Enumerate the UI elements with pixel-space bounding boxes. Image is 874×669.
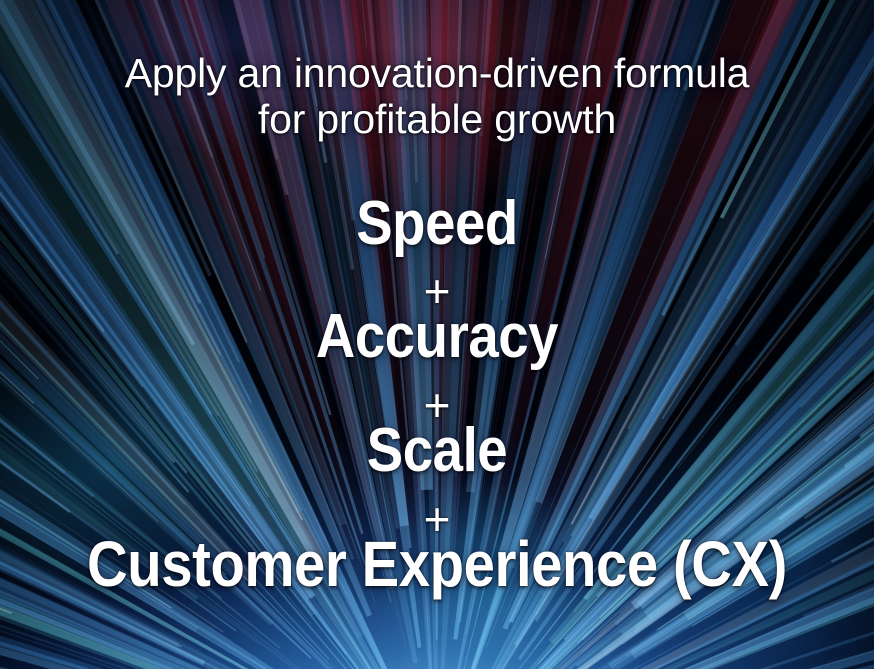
headline-line-1: Apply an innovation-driven formula xyxy=(0,50,874,96)
headline-line-2: for profitable growth xyxy=(0,96,874,142)
formula-term-speed: Speed xyxy=(52,193,821,255)
formula-term-accuracy: Accuracy xyxy=(52,306,821,368)
formula-term-scale: Scale xyxy=(52,420,821,482)
slide-content: Apply an innovation-driven formula for p… xyxy=(0,0,874,669)
slide-canvas: Apply an innovation-driven formula for p… xyxy=(0,0,874,669)
formula-term-customer-experience: Customer Experience (CX) xyxy=(52,532,821,596)
